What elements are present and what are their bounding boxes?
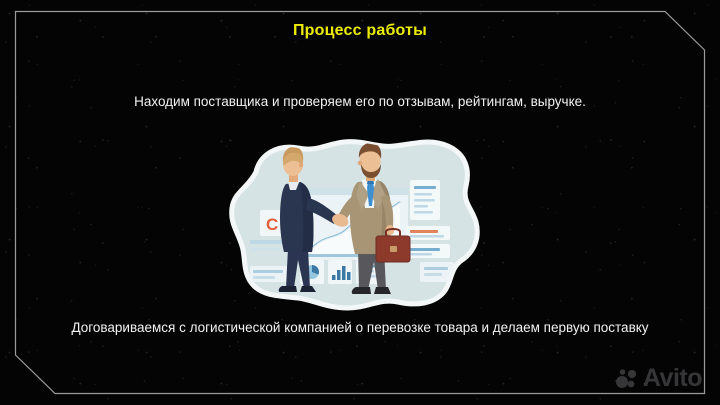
page-title: Процесс работы — [0, 22, 720, 40]
avito-logo-icon — [615, 367, 639, 391]
handshake-businessmen-illustration: C — [208, 136, 504, 312]
avito-watermark: Avito — [615, 366, 702, 391]
svg-text:C: C — [266, 215, 278, 234]
avito-wordmark: Avito — [643, 366, 702, 391]
step-logistics-text: Договариваемся с логистической компанией… — [50, 318, 670, 337]
slide-root: Процесс работы Находим поставщика и пров… — [0, 0, 720, 405]
step-find-supplier-text: Находим поставщика и проверяем его по от… — [50, 92, 670, 111]
